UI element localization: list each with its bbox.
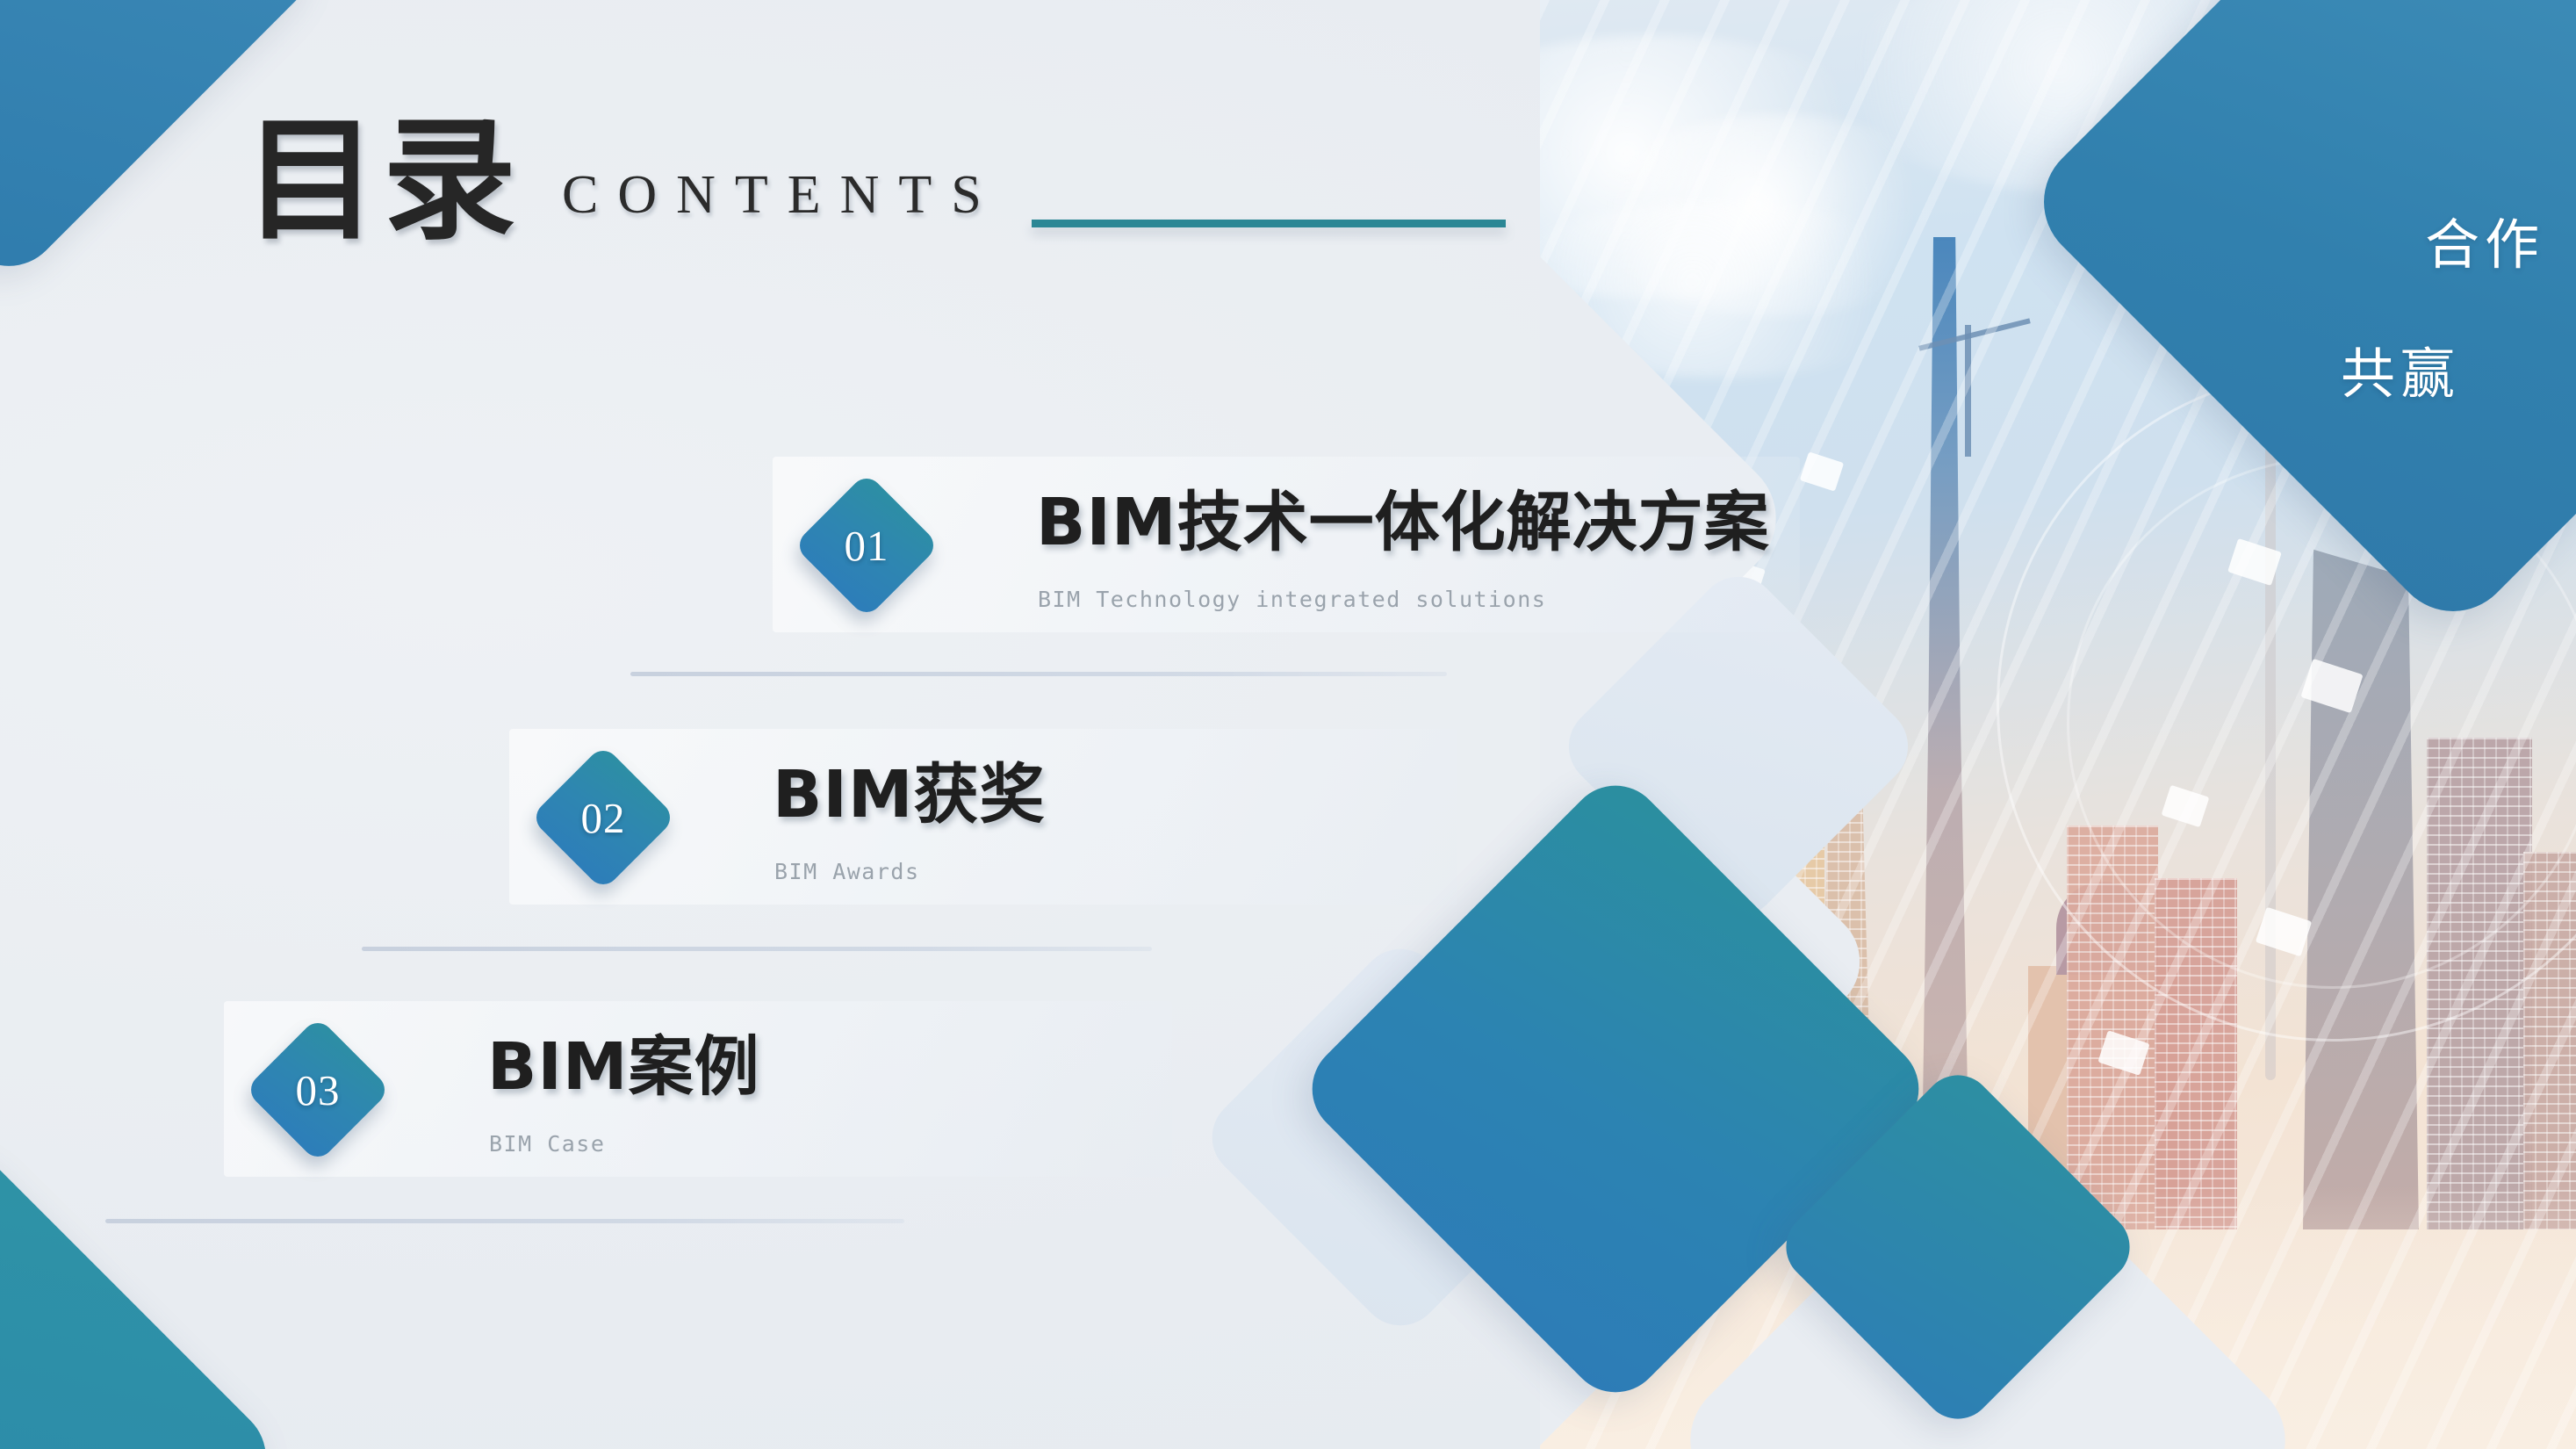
item-number-label: 03 [266, 1038, 370, 1142]
item-title: BIM技术一体化解决方案 [1036, 490, 1770, 555]
item-subtitle: BIM Awards [774, 859, 920, 884]
title-accent-rule [1032, 220, 1506, 227]
presentation-slide: 合作 共赢 目录CONTENTS 01 BIM技术一体化解决方案 BIM Tec… [0, 0, 2576, 1449]
page-title-en: CONTENTS [562, 164, 1001, 227]
tagline-line-2: 共赢 [2341, 329, 2460, 408]
decor-diamond-bottom-left [0, 1135, 288, 1449]
item-subtitle: BIM Technology integrated solutions [1038, 587, 1546, 612]
page-title: 目录CONTENTS [244, 114, 1001, 248]
item-subtitle: BIM Case [489, 1131, 605, 1157]
item-divider [630, 672, 1447, 676]
item-divider [105, 1219, 904, 1223]
page-title-zh: 目录 [244, 114, 522, 248]
item-number-label: 01 [815, 494, 918, 597]
tagline-line-1: 合作 [2425, 200, 2544, 279]
item-number-label: 02 [551, 766, 655, 869]
item-title: BIM案例 [487, 1034, 760, 1099]
item-divider [362, 947, 1152, 951]
item-title: BIM获奖 [773, 762, 1046, 827]
